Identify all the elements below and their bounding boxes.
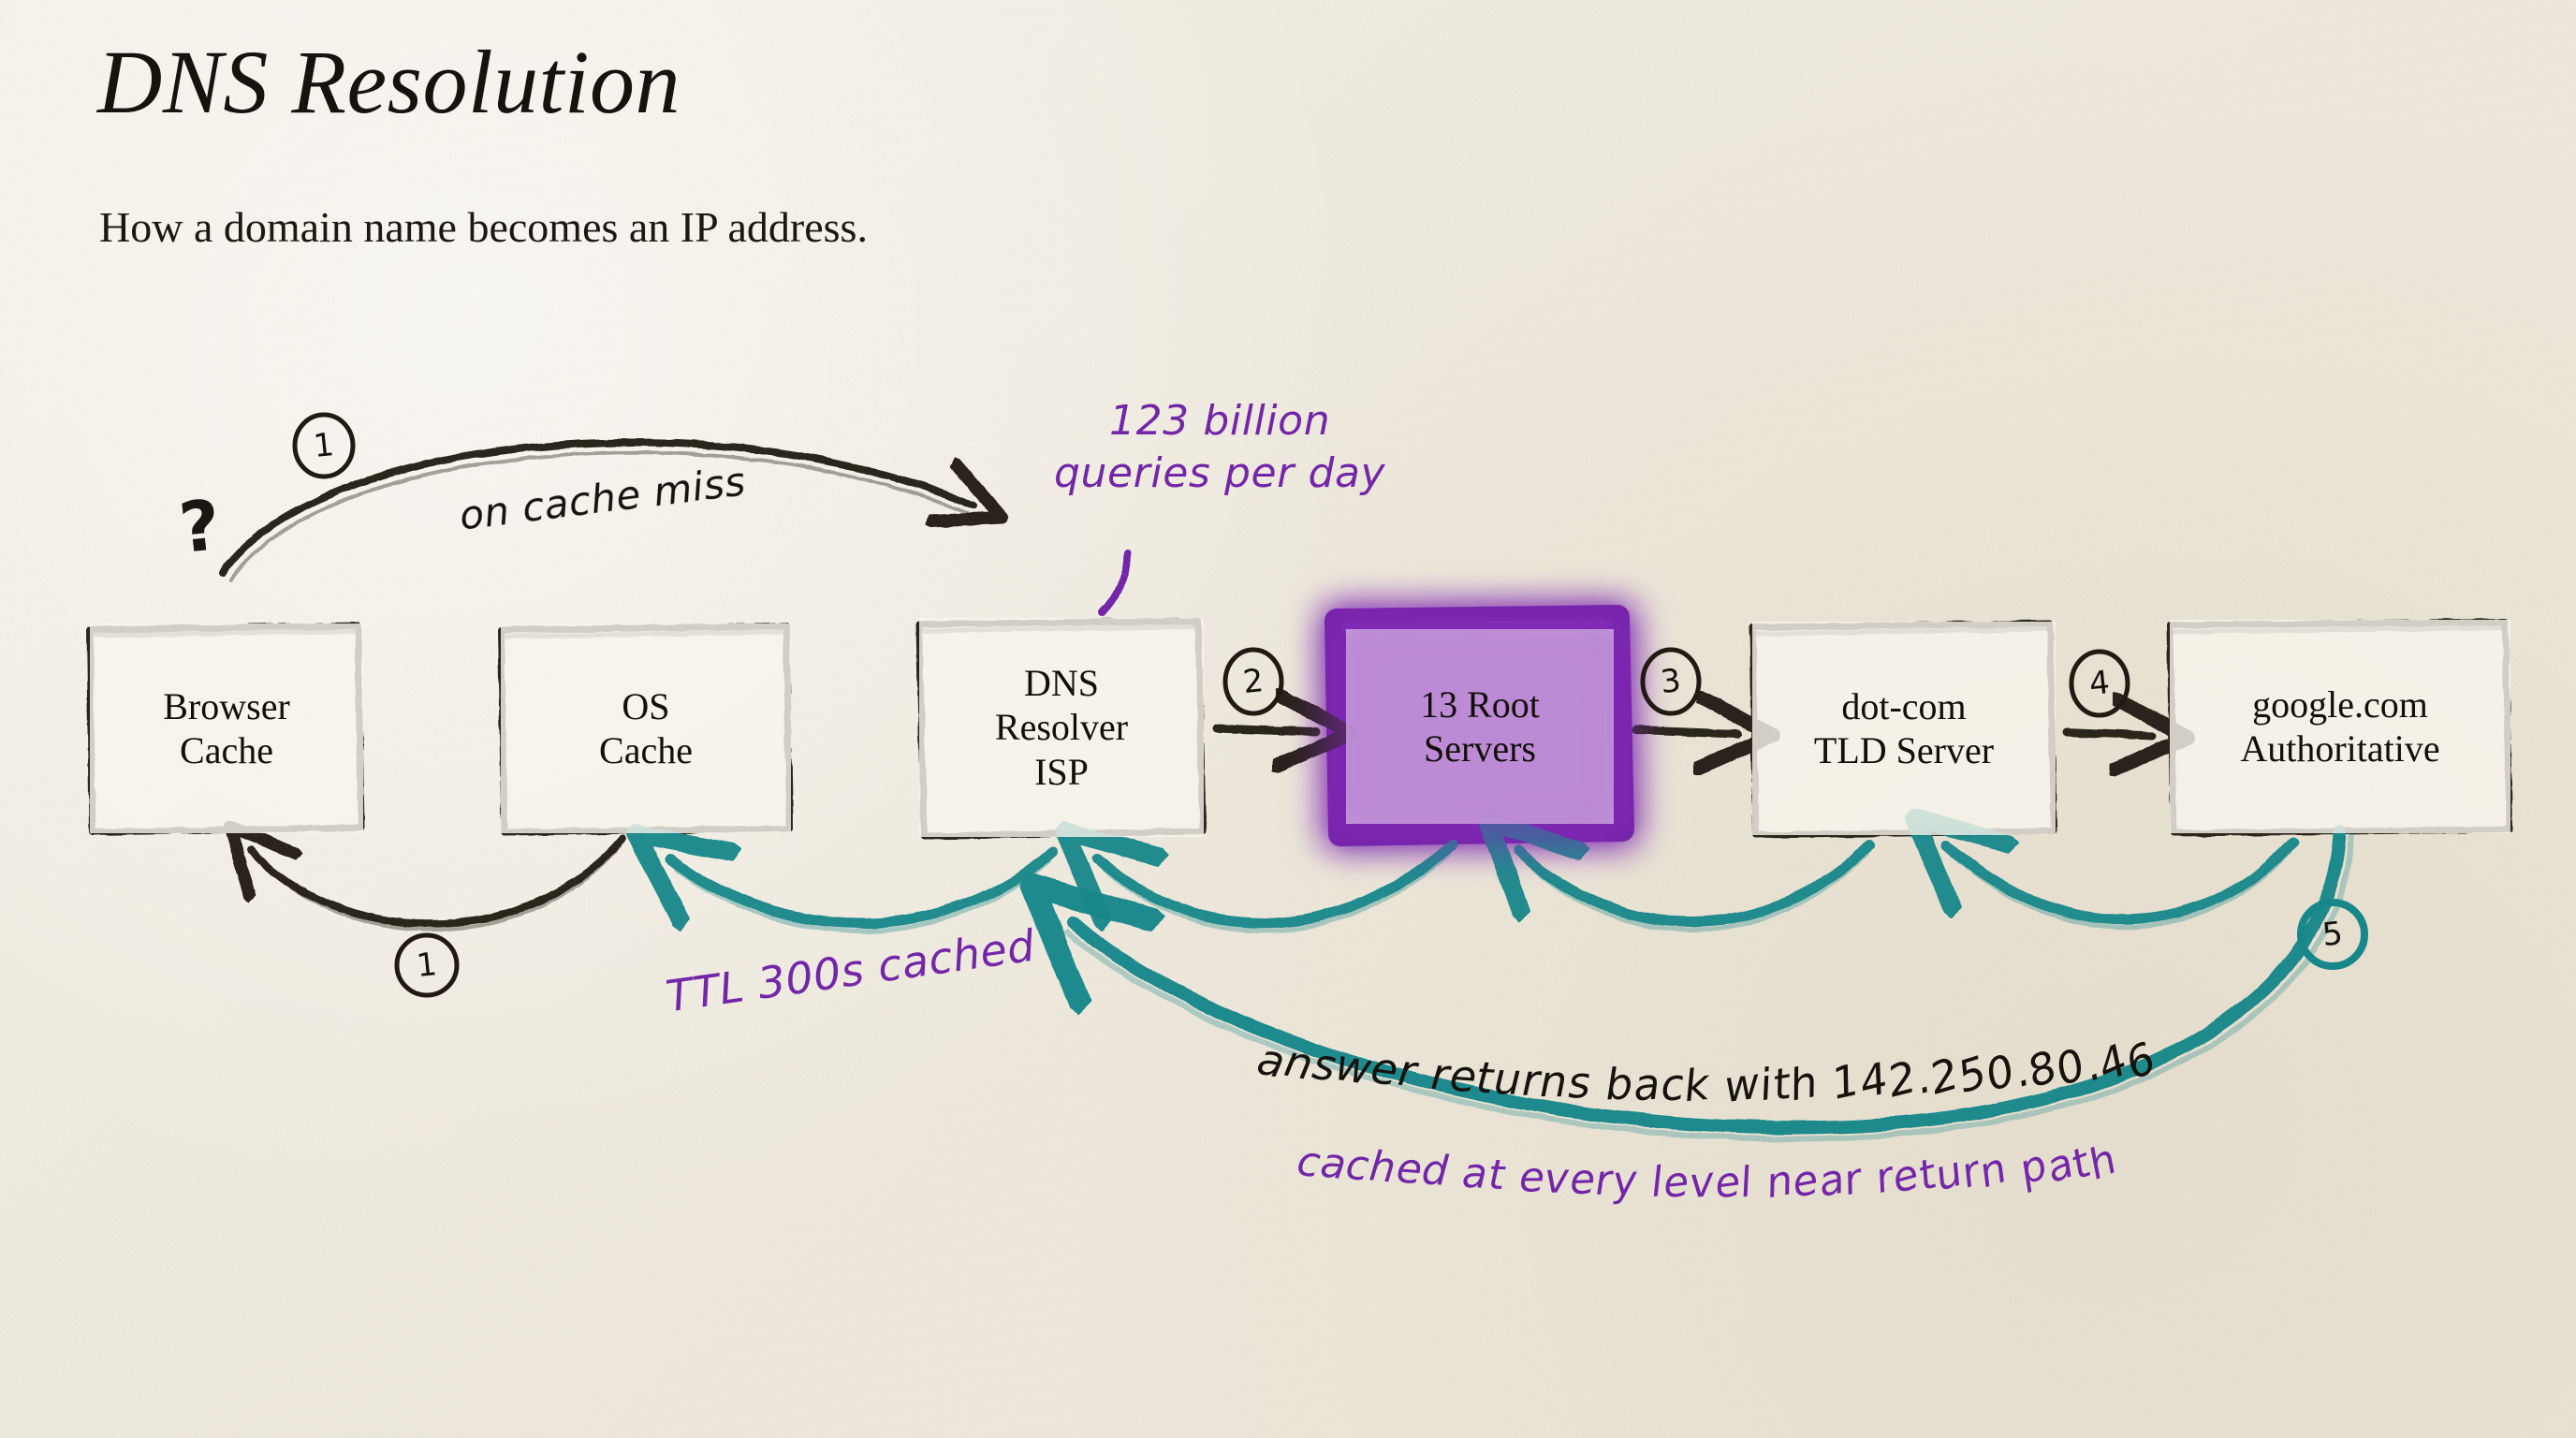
annotation-cached-every-level: cached at every level near return path <box>1297 1138 2116 1186</box>
arc-glyph: e <box>1395 1144 1425 1194</box>
arc-glyph: a <box>1632 1059 1661 1111</box>
arc-glyph: e <box>1518 1153 1544 1201</box>
arrow-resolver-to-root <box>1217 728 1316 732</box>
arc-glyph: d <box>1421 1146 1451 1196</box>
arc-glyph: e <box>1569 1155 1596 1204</box>
page-title: DNS Resolution <box>97 36 681 130</box>
node-label: Browser Cache <box>154 684 300 772</box>
badge-step-5: 5 <box>2295 897 2370 972</box>
arc-glyph: t <box>1487 1152 1505 1199</box>
node-root-servers[interactable]: 13 Root Servers <box>1346 629 1614 824</box>
node-label: 13 Root Servers <box>1411 682 1549 770</box>
badge-step-1-bottom: 1 <box>393 932 461 999</box>
node-tld-server[interactable]: dot-com TLD Server <box>1752 622 2056 835</box>
arrow-root-to-tld <box>1636 730 1737 734</box>
arc-glyph: r <box>1521 1055 1541 1106</box>
arc-glyph: s <box>1568 1057 1591 1108</box>
badge-step-1-top: 1 <box>290 412 358 479</box>
return-arrow-authoritative-to-tld <box>1947 843 2293 928</box>
purple-pointer-tick <box>1103 552 1129 612</box>
node-label: DNS Resolver ISP <box>986 661 1137 794</box>
badge-number: 4 <box>2087 664 2112 703</box>
badge-number: 1 <box>312 426 336 465</box>
arc-glyph <box>1505 1152 1519 1200</box>
question-mark-annotation: ? <box>176 485 225 569</box>
badge-number: 3 <box>1659 662 1683 701</box>
node-os-cache[interactable]: OS Cache <box>501 624 791 833</box>
node-dns-resolver[interactable]: DNS Resolver ISP <box>919 618 1204 837</box>
node-browser-cache[interactable]: Browser Cache <box>90 624 363 833</box>
arc-glyph: b <box>1604 1058 1634 1109</box>
arc-glyph: e <box>1448 1049 1479 1102</box>
node-label: google.com Authoritative <box>2231 682 2449 770</box>
return-arrow-tld-to-root <box>1518 844 1870 930</box>
arrow-oscache-to-browser <box>251 839 622 930</box>
arc-glyph: y <box>1612 1157 1640 1206</box>
arc-glyph: v <box>1544 1154 1570 1202</box>
badge-number: 1 <box>415 946 439 985</box>
arrow-tld-to-authoritative <box>2067 732 2153 736</box>
badge-step-4: 4 <box>2067 648 2132 719</box>
node-label: OS Cache <box>590 684 702 772</box>
badge-number: 2 <box>1241 662 1266 701</box>
arc-glyph: n <box>1540 1056 1568 1107</box>
return-arrow-resolver-to-oscache <box>670 852 1052 932</box>
annotation-answer-returns: answer returns back with 142.250.80.46 <box>1258 1035 2155 1086</box>
arc-glyph: a <box>1461 1150 1489 1198</box>
arc-glyph: u <box>1493 1053 1523 1105</box>
annotation-queries-per-day: 123 billion queries per day <box>1054 395 1385 501</box>
badge-number: 5 <box>2320 915 2345 954</box>
badge-step-3: 3 <box>1638 646 1704 717</box>
return-arrow-root-to-resolver <box>1097 844 1453 931</box>
page-subtitle: How a domain name becomes an IP address. <box>99 202 868 252</box>
node-label: dot-com TLD Server <box>1805 684 2003 772</box>
badge-step-2: 2 <box>1221 646 1286 717</box>
arc-glyph: h <box>1368 1142 1398 1193</box>
node-authoritative[interactable]: google.com Authoritative <box>2170 620 2510 833</box>
